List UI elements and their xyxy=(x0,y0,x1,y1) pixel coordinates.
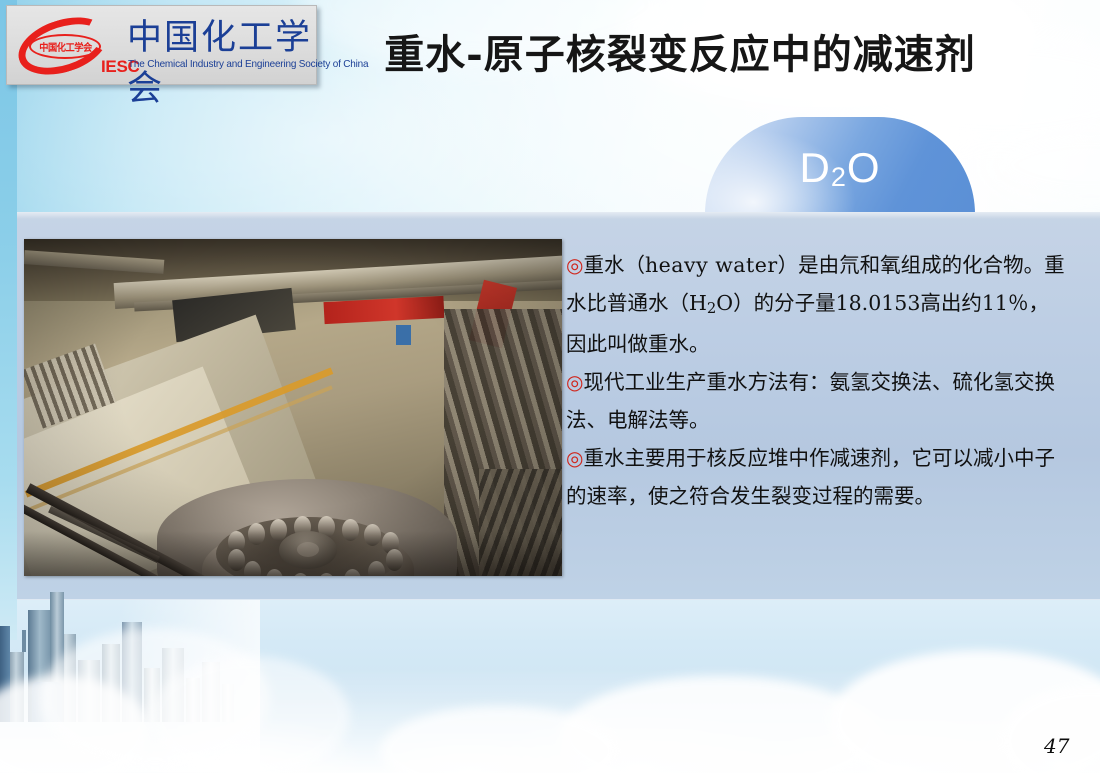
slide-canvas: 中国化工学会 IESC 中国化工学会 The Chemical Industry… xyxy=(0,0,1100,773)
bullet-paragraph-1: ◎重水（heavy water）是由氘和氧组成的化合物。重水比普通水（H2O）的… xyxy=(566,246,1066,363)
page-title: 重水-原子核裂变反应中的减速剂 xyxy=(330,22,1030,80)
bullet-text-1-d: 高出约 xyxy=(920,291,982,315)
bullet-marker-icon: ◎ xyxy=(566,253,583,277)
page-number: 47 xyxy=(1044,734,1069,758)
bullet-text-1-c: ）的分子量 xyxy=(733,291,836,315)
d2o-sub: 2 xyxy=(831,162,847,192)
bullet-paragraph-2: ◎现代工业生产重水方法有：氨氢交换法、硫化氢交换法、电解法等。 xyxy=(566,363,1066,439)
d2o-formula: D2O xyxy=(705,147,975,189)
percent-higher: 11％ xyxy=(982,291,1029,315)
panel-highlight xyxy=(17,212,1100,219)
d2o-d: D xyxy=(799,144,830,191)
molecular-weight: 18.0153 xyxy=(836,291,921,315)
h2o-h: H xyxy=(689,291,707,315)
logo-inner-text: 中国化工学会 xyxy=(39,39,91,54)
heavy-water-en: heavy water xyxy=(645,253,778,277)
bullet-marker-icon: ◎ xyxy=(566,370,583,394)
photo-vignette xyxy=(24,239,562,576)
h2o-sub: 2 xyxy=(707,300,716,317)
nuclear-reactor-vessel-photo xyxy=(24,239,562,576)
logo-inner-ellipse-icon: 中国化工学会 xyxy=(29,34,101,59)
d2o-o: O xyxy=(847,144,881,191)
body-text-block: ◎重水（heavy water）是由氘和氧组成的化合物。重水比普通水（H2O）的… xyxy=(566,246,1066,515)
left-edge-strip xyxy=(0,0,17,640)
society-logo: 中国化工学会 IESC 中国化工学会 The Chemical Industry… xyxy=(6,5,317,85)
bullet-paragraph-3: ◎重水主要用于核反应堆中作减速剂，它可以减小中子的速率，使之符合发生裂变过程的需… xyxy=(566,439,1066,515)
cloud-decor xyxy=(150,656,350,773)
bullet-marker-icon: ◎ xyxy=(566,446,583,470)
bullet-text-2: 现代工业生产重水方法有：氨氢交换法、硫化氢交换法、电解法等。 xyxy=(566,370,1055,432)
h2o-o: O xyxy=(716,291,733,315)
bullet-text-1-a: 重水（ xyxy=(583,253,645,277)
ciesc-logo-icon: 中国化工学会 IESC xyxy=(13,10,117,82)
bullet-text-3: 重水主要用于核反应堆中作减速剂，它可以减小中子的速率，使之符合发生裂变过程的需要… xyxy=(566,446,1055,508)
